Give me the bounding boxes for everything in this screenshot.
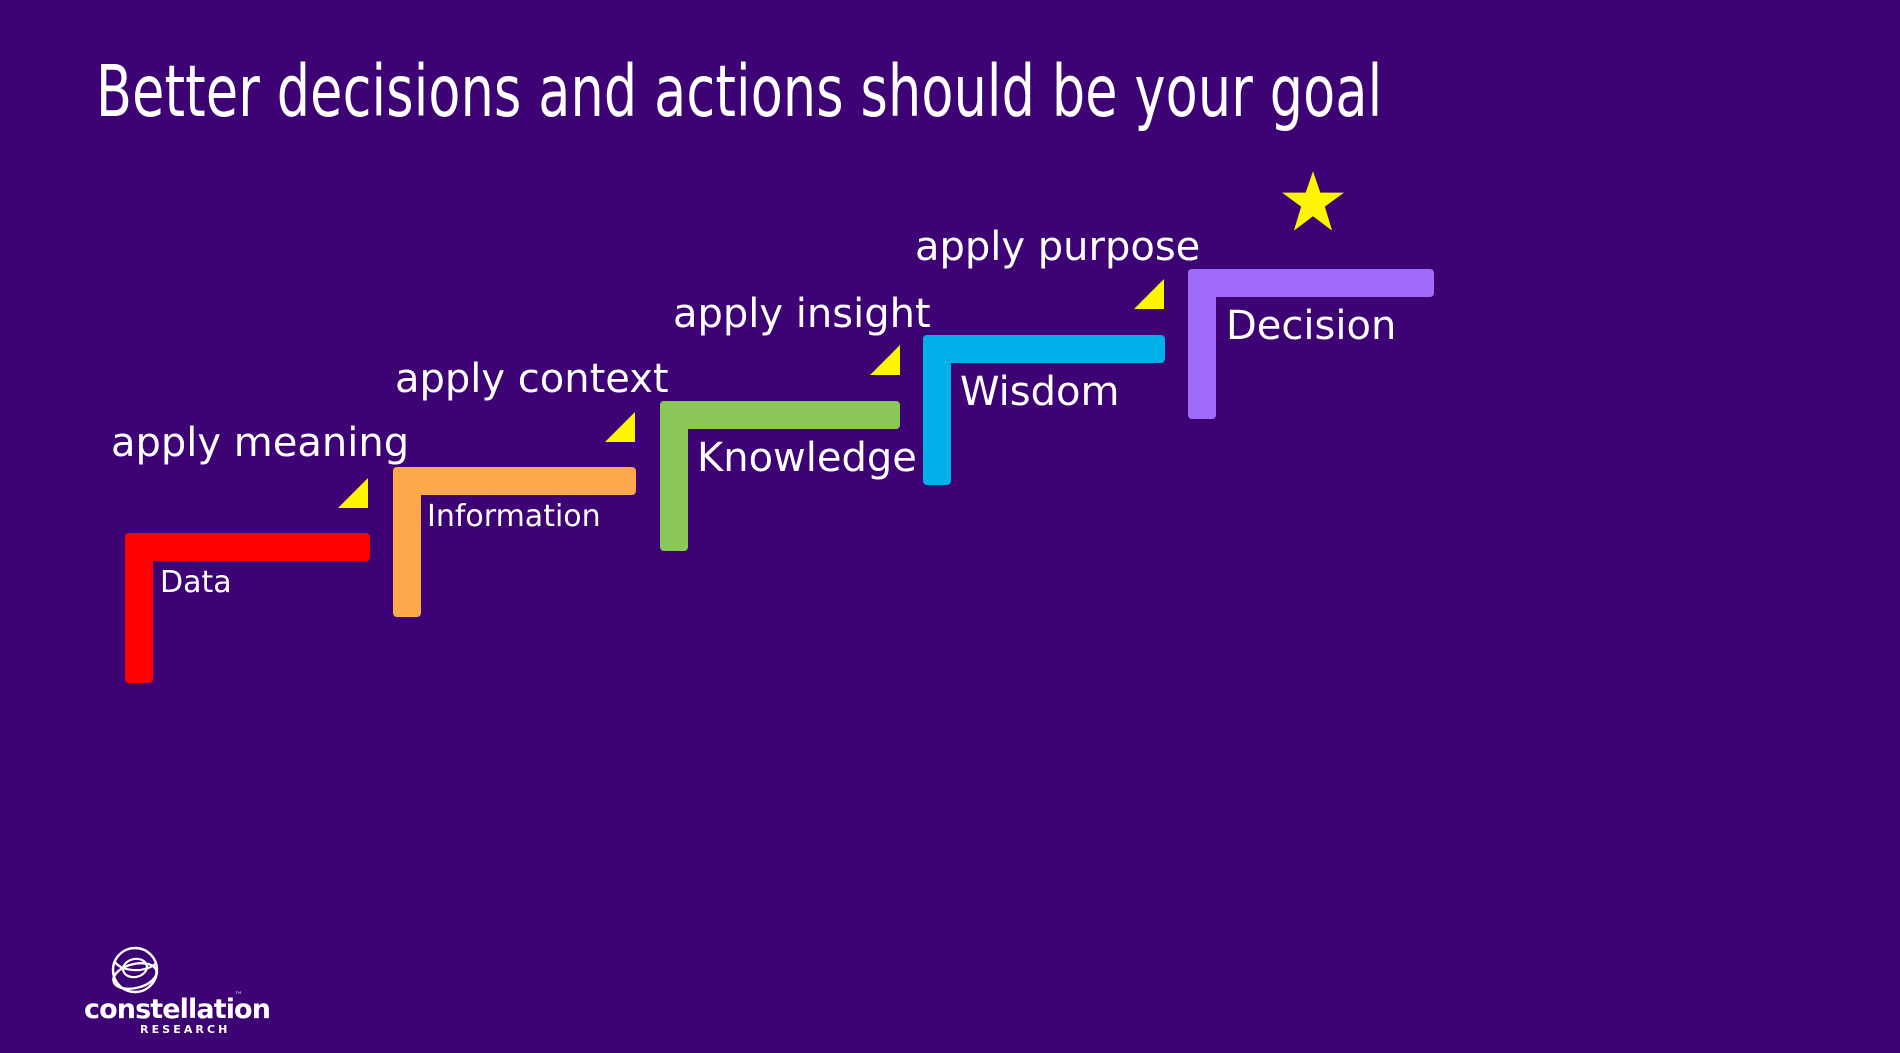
transition-label: apply meaning <box>111 420 409 466</box>
step-label: Knowledge <box>697 435 917 481</box>
step-label: Data <box>160 565 232 600</box>
transition-label: apply context <box>395 356 669 402</box>
step-bar-horizontal <box>1188 269 1434 297</box>
step-label: Wisdom <box>960 369 1119 415</box>
logo-trademark: ™ <box>234 992 243 1001</box>
transition-label: apply insight <box>673 291 931 337</box>
arrow-up-right-icon <box>605 412 635 442</box>
step-bar-vertical <box>1188 269 1216 419</box>
arrow-up-right-icon <box>1134 279 1164 309</box>
transition-label: apply purpose <box>915 224 1200 270</box>
staircase-step <box>393 467 636 617</box>
step-label: Information <box>427 499 601 534</box>
step-bar-vertical <box>923 335 951 485</box>
step-bar-horizontal <box>923 335 1165 363</box>
constellation-research-logo: constellation ™ RESEARCH <box>84 948 252 1036</box>
page-title: Better decisions and actions should be y… <box>96 55 1490 130</box>
step-label: Decision <box>1226 303 1396 349</box>
staircase-step <box>125 533 370 683</box>
logo-subtitle: RESEARCH <box>140 1024 230 1035</box>
star-icon <box>1282 171 1344 231</box>
arrow-up-right-icon <box>338 478 368 508</box>
step-bar-horizontal <box>393 467 636 495</box>
arrow-up-right-icon <box>870 345 900 375</box>
slide-canvas: Better decisions and actions should be y… <box>0 0 1900 1053</box>
step-bar-horizontal <box>660 401 900 429</box>
step-bar-vertical <box>393 467 421 617</box>
step-bar-vertical <box>660 401 688 551</box>
step-bar-horizontal <box>125 533 370 561</box>
step-bar-vertical <box>125 533 153 683</box>
